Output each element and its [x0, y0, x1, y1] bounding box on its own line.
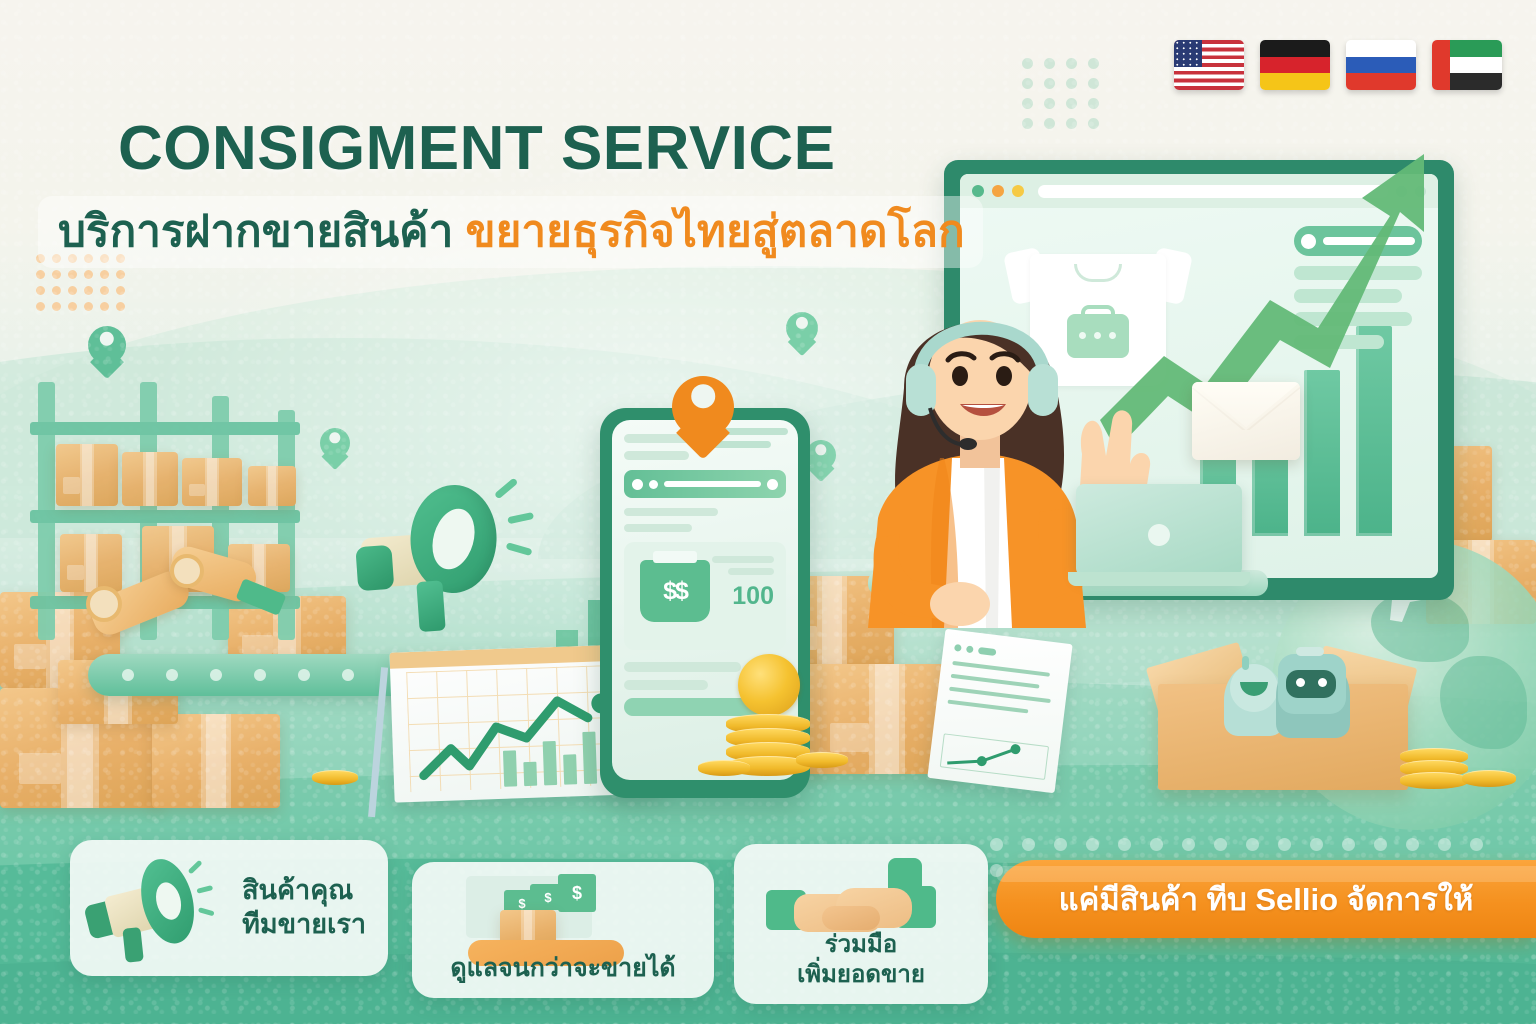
open-box-with-robots — [1158, 640, 1408, 790]
window-dot-orange — [992, 185, 1004, 197]
coin-loose-4 — [312, 770, 358, 785]
coin-stack-right — [1400, 748, 1468, 794]
headline-block: CONSIGMENT SERVICE — [118, 118, 836, 180]
consignment-service-banner: $$ 100 — [0, 0, 1536, 1024]
robotic-arm — [86, 520, 296, 670]
cta-label: แค่มีสินค้า ทีบ Sellio จัดการให้ — [1059, 874, 1474, 924]
coin-loose-3 — [1462, 770, 1516, 787]
flag-russia[interactable] — [1346, 40, 1416, 90]
feature-card-1-label: สินค้าคุณ ทีมขายเรา — [242, 874, 366, 942]
laptop — [1068, 484, 1250, 594]
feature-card-3[interactable]: ร่วมมือ เพิ่มยอดขาย — [734, 844, 988, 1004]
subtitle-orange-text: ขยายธุรกิจไทยสู่ตลาดโลก — [466, 207, 965, 256]
flag-united-arab-emirates[interactable] — [1432, 40, 1502, 90]
robot-large — [1276, 654, 1350, 738]
box-stack-left-3 — [152, 714, 280, 808]
window-dot-green — [972, 185, 984, 197]
flag-united-states[interactable] — [1174, 40, 1244, 90]
window-dot-yellow — [1012, 185, 1024, 197]
cta-banner[interactable]: แค่มีสินค้า ทีบ Sellio จัดการให้ — [996, 860, 1536, 938]
contract-document — [927, 629, 1072, 793]
phone-amount: 100 — [732, 582, 774, 611]
flag-germany[interactable] — [1260, 40, 1330, 90]
subtitle-line: บริการฝากขายสินค้า ขยายธุรกิจไทยสู่ตลาดโ… — [58, 200, 965, 264]
page-title: CONSIGMENT SERVICE — [118, 118, 836, 180]
gold-coin-large — [738, 654, 800, 716]
map-pin-icon-3 — [786, 312, 818, 356]
feature-card-2[interactable]: $ $ $ ดูแลจนกว่าจะขายได้ — [412, 862, 714, 998]
map-pin-icon-main — [672, 376, 734, 462]
coin-loose-2 — [796, 752, 848, 768]
megaphone-icon — [76, 849, 214, 971]
money-bag-icon: $$ — [640, 560, 710, 622]
coin-loose-1 — [698, 760, 750, 776]
robot-small — [1224, 664, 1284, 736]
subtitle-green-text: บริการฝากขายสินค้า — [58, 207, 453, 256]
feature-card-3-label: ร่วมมือ เพิ่มยอดขาย — [734, 930, 988, 990]
map-pin-icon-4 — [806, 440, 836, 482]
feature-card-1[interactable]: สินค้าคุณ ทีมขายเรา — [70, 840, 388, 976]
feature-card-2-label: ดูแลจนกว่าจะขายได้ — [412, 953, 714, 984]
envelope-icon — [1192, 382, 1300, 460]
country-flags — [1174, 40, 1502, 90]
